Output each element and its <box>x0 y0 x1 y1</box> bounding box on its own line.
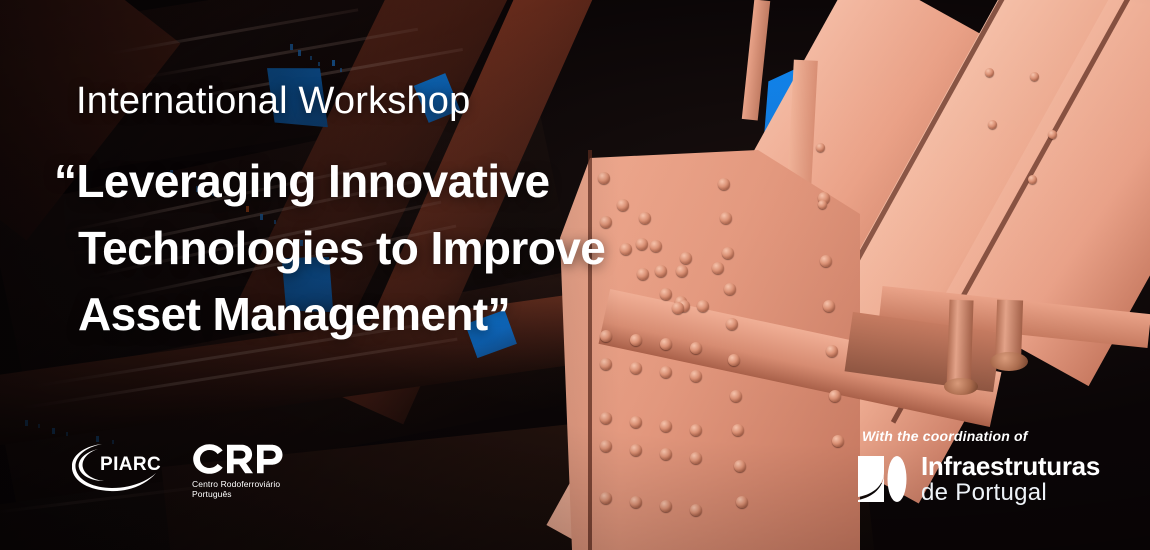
headline-line-2: Technologies to Improve <box>78 215 662 282</box>
crp-logo[interactable]: Centro Rodoferroviário Português <box>192 441 312 500</box>
infraestruturas-logo-mark-icon <box>856 454 908 504</box>
partner-logos: PIARC Centro Rodoferroviário Português <box>72 441 312 500</box>
infraestruturas-line-2: de Portugal <box>921 481 1100 505</box>
crp-subtitle-line-1: Centro Rodoferroviário <box>192 479 280 489</box>
crp-subtitle-line-2: Português <box>192 489 232 499</box>
crp-wordmark-icon <box>192 443 296 475</box>
headline-line-1: “Leveraging Innovative <box>54 148 662 215</box>
event-headline: “Leveraging Innovative Technologies to I… <box>62 148 662 348</box>
piarc-wordmark: PIARC <box>100 455 161 474</box>
banner-content: International Workshop “Leveraging Innov… <box>0 0 1150 550</box>
piarc-logo[interactable]: PIARC <box>72 441 168 493</box>
coordination-label: With the coordination of <box>856 428 1100 444</box>
headline-line-3: Asset Management” <box>78 281 662 348</box>
infraestruturas-wordmark: Infraestruturas de Portugal <box>921 453 1100 505</box>
infraestruturas-line-1: Infraestruturas <box>921 453 1100 479</box>
crp-subtitle: Centro Rodoferroviário Português <box>192 479 312 500</box>
event-kicker: International Workshop <box>76 82 470 120</box>
infraestruturas-de-portugal-logo[interactable]: Infraestruturas de Portugal <box>856 453 1100 505</box>
event-banner: International Workshop “Leveraging Innov… <box>0 0 1150 550</box>
coordination-block: With the coordination of Infraestruturas… <box>856 428 1100 505</box>
